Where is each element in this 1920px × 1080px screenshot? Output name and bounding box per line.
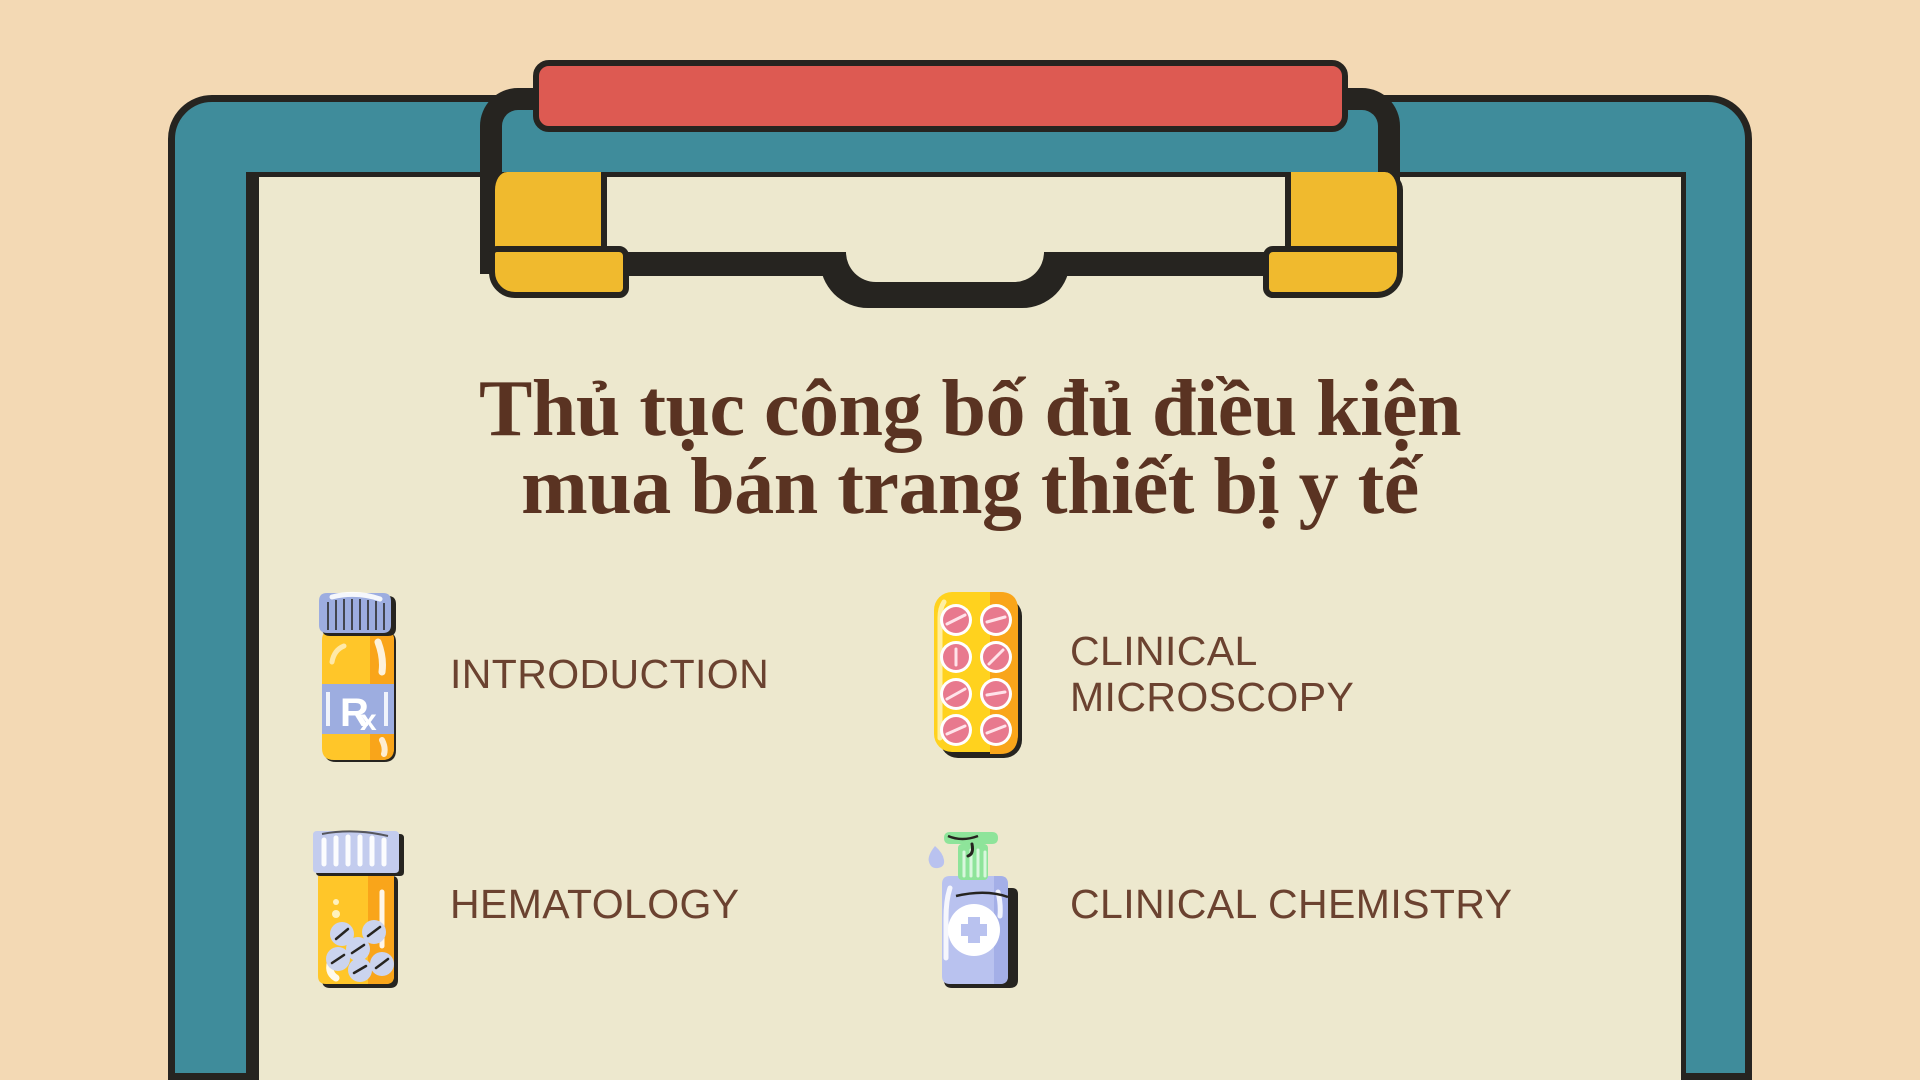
clip-bracket-foot-right — [1263, 246, 1403, 298]
list-item-label: CLINICAL CHEMISTRY — [1070, 882, 1512, 928]
list-item-clinical-chemistry[interactable]: CLINICAL CHEMISTRY — [920, 818, 1620, 993]
clipboard-clip — [0, 0, 1920, 340]
list-item-label: HEMATOLOGY — [450, 882, 740, 928]
page-title-line-1: Thủ tục công bố đủ điều kiện — [254, 370, 1686, 448]
clip-red-bar — [533, 60, 1348, 132]
page-title-line-2: mua bán trang thiết bị y tế — [254, 448, 1686, 526]
list-item-hematology[interactable]: HEMATOLOGY — [300, 818, 920, 993]
list-item-label: INTRODUCTION — [450, 652, 769, 698]
list-item-clinical-microscopy[interactable]: CLINICAL MICROSCOPY — [920, 580, 1620, 770]
sanitizer-bottle-icon — [920, 818, 1040, 993]
rx-bottle-icon: R x — [300, 580, 420, 770]
clip-bracket-foot-left — [489, 246, 629, 298]
clip-center-dip-inner — [846, 252, 1044, 282]
list-item-introduction[interactable]: R x INTRODUCTION — [300, 580, 920, 770]
contents-list: R x INTRODUCTION — [300, 560, 1660, 1020]
page-title: Thủ tục công bố đủ điều kiện mua bán tra… — [254, 370, 1686, 527]
svg-text:x: x — [360, 704, 377, 737]
pill-bottle-icon — [300, 818, 420, 993]
blister-pack-icon — [920, 580, 1040, 770]
list-item-label: CLINICAL MICROSCOPY — [1070, 629, 1354, 721]
slide-canvas: Thủ tục công bố đủ điều kiện mua bán tra… — [0, 0, 1920, 1080]
